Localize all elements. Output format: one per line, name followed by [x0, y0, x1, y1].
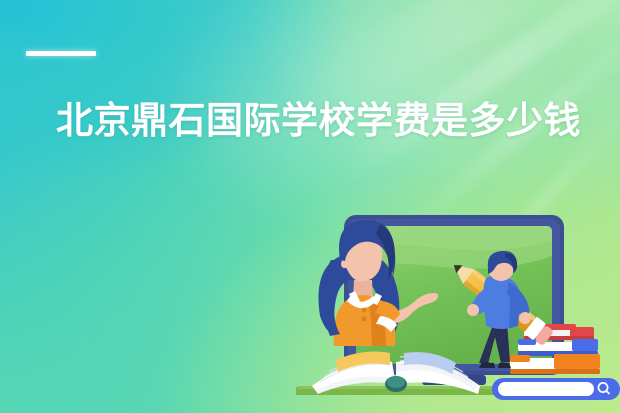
- search-bar: [492, 378, 620, 400]
- light-streak: [329, 0, 620, 189]
- page-title: 北京鼎石国际学校学费是多少钱: [56, 100, 576, 142]
- accent-rule: [26, 51, 96, 56]
- search-input: [498, 382, 594, 396]
- banner: 北京鼎石国际学校学费是多少钱: [0, 0, 620, 413]
- light-streak: [331, 0, 580, 103]
- orange-book: [510, 354, 600, 374]
- education-illustration: [296, 198, 620, 413]
